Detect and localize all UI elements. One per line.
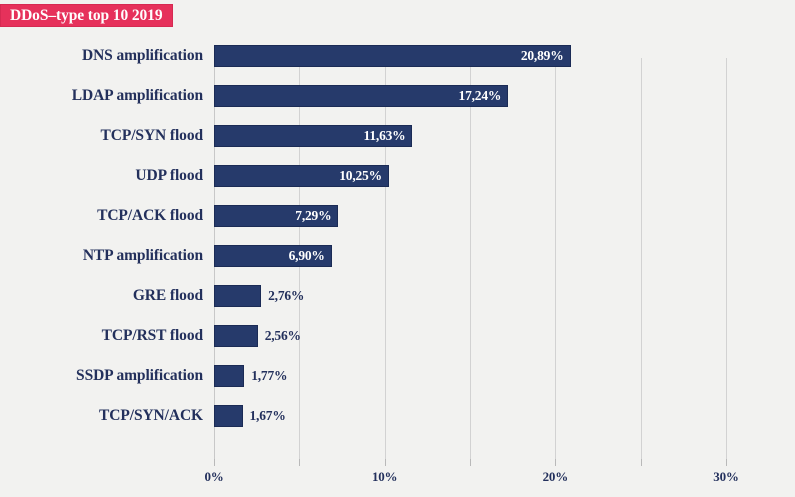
- category-label: TCP/RST flood: [0, 316, 203, 356]
- bar[interactable]: [214, 405, 243, 427]
- bar-value-label: 20,89%: [521, 49, 570, 63]
- bar-value-label: 2,56%: [265, 325, 301, 347]
- plot-area: DNS amplification20,89%LDAP amplificatio…: [0, 36, 795, 497]
- bar[interactable]: [214, 365, 244, 387]
- bar[interactable]: 11,63%: [214, 125, 412, 147]
- bar[interactable]: 17,24%: [214, 85, 508, 107]
- bar-value-label: 7,29%: [295, 209, 337, 223]
- category-label: SSDP amplification: [0, 356, 203, 396]
- bar-row: SSDP amplification1,77%: [0, 356, 795, 396]
- bar-row: LDAP amplification17,24%: [0, 76, 795, 116]
- chart-title-badge: DDoS–type top 10 2019: [0, 4, 173, 27]
- x-axis: 0%10%20%30%: [0, 461, 795, 497]
- category-label: TCP/SYN/ACK: [0, 396, 203, 436]
- bar[interactable]: 7,29%: [214, 205, 338, 227]
- bar[interactable]: [214, 325, 258, 347]
- bar[interactable]: 10,25%: [214, 165, 389, 187]
- x-axis-label-20: 20%: [543, 469, 568, 485]
- category-label: UDP flood: [0, 156, 203, 196]
- category-label: NTP amplification: [0, 236, 203, 276]
- x-axis-label-10: 10%: [372, 469, 397, 485]
- chart-screenshot: DDoS–type top 10 2019 DNS amplification2…: [0, 0, 795, 497]
- bar-value-label: 6,90%: [289, 249, 331, 263]
- x-axis-label-30: 30%: [713, 469, 738, 485]
- category-label: LDAP amplification: [0, 76, 203, 116]
- bar-value-label: 2,76%: [268, 285, 304, 307]
- bar-value-label: 17,24%: [459, 89, 508, 103]
- bar-value-label: 10,25%: [339, 169, 388, 183]
- bar-row: TCP/SYN/ACK1,67%: [0, 396, 795, 436]
- x-axis-label-0: 0%: [204, 469, 223, 485]
- bar-row: TCP/RST flood2,56%: [0, 316, 795, 356]
- bar[interactable]: 6,90%: [214, 245, 332, 267]
- bar-value-label: 1,67%: [250, 405, 286, 427]
- bar-value-label: 1,77%: [251, 365, 287, 387]
- bar-row: GRE flood2,76%: [0, 276, 795, 316]
- bar-row: NTP amplification6,90%: [0, 236, 795, 276]
- bar-row: UDP flood10,25%: [0, 156, 795, 196]
- bar[interactable]: 20,89%: [214, 45, 571, 67]
- category-label: TCP/SYN flood: [0, 116, 203, 156]
- bar-rows: DNS amplification20,89%LDAP amplificatio…: [0, 36, 795, 461]
- bar[interactable]: [214, 285, 261, 307]
- category-label: DNS amplification: [0, 36, 203, 76]
- bar-row: TCP/ACK flood7,29%: [0, 196, 795, 236]
- page-title: DDoS–type top 10 2019: [10, 8, 162, 24]
- bar-value-label: 11,63%: [364, 129, 412, 143]
- category-label: TCP/ACK flood: [0, 196, 203, 236]
- bar-row: TCP/SYN flood11,63%: [0, 116, 795, 156]
- bar-row: DNS amplification20,89%: [0, 36, 795, 76]
- category-label: GRE flood: [0, 276, 203, 316]
